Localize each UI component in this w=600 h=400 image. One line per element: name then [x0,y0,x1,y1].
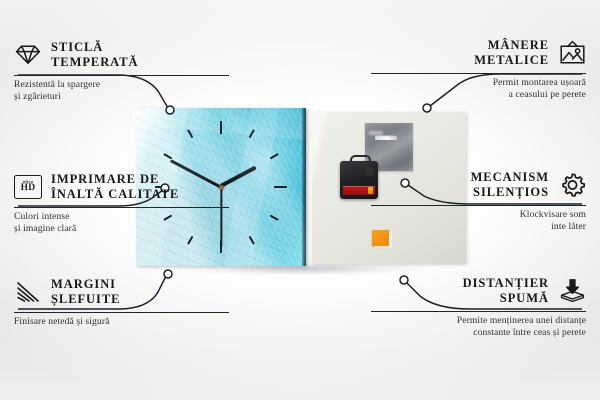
feature-rule [14,312,229,313]
feature-subtitle: Klockvisare som inte låter [371,209,586,235]
gear-icon [558,172,586,198]
foam-spacer-arrow-icon [558,278,586,304]
hanger-glint [369,131,383,135]
feature-metal-hangers: MÂNERE METALICE Permit montarea ușoară [371,38,586,102]
feature-title: MARGINI ȘLEFUITE [51,277,120,307]
feature-rule [371,311,586,312]
infographic-canvas: STICLĂ TEMPERATĂ Rezistentă la spargere … [0,0,600,400]
feature-subtitle: Permit montarea ușoară a ceasului pe per… [371,77,586,103]
feature-high-quality-print: ultra HD IMPRIMARE DE ÎNALTĂ CALITATE Cu… [14,172,229,236]
feature-subtitle: Rezistentă la spargere și zgârieturi [14,79,229,105]
hanger-slot [375,135,397,140]
hd-badge-large-text: HD [21,184,36,194]
clock-side-edge [302,108,306,266]
feature-rule [371,73,586,74]
feature-title: MECANISM SILENȚIOS [471,170,549,200]
picture-frame-hanger-icon [558,40,586,66]
feature-title: DISTANȚIER SPUMĂ [463,276,549,306]
beveled-edge-icon [14,279,42,305]
feature-polished-edges: MARGINI ȘLEFUITE Finisare netedă și sigu… [14,277,229,328]
feature-title: MÂNERE METALICE [474,38,549,68]
ultra-hd-badge-icon: ultra HD [14,174,42,200]
feature-foam-spacer: DISTANȚIER SPUMĂ Permite menținerea unei… [371,276,586,340]
feature-subtitle: Finisare netedă și sigură [14,316,229,329]
feature-subtitle: Permite menținerea unei distanțe constan… [371,315,586,341]
feature-tempered-glass: STICLĂ TEMPERATĂ Rezistentă la spargere … [14,40,229,104]
feature-title: STICLĂ TEMPERATĂ [51,40,139,70]
diamond-icon [14,42,42,68]
feature-title: IMPRIMARE DE ÎNALTĂ CALITATE [51,172,179,202]
feature-subtitle: Culori intense și imagine clară [14,211,229,237]
feature-silent-mechanism: MECANISM SILENȚIOS Klockvisare som inte … [371,170,586,234]
feature-rule [14,207,229,208]
feature-rule [371,205,586,206]
feature-rule [14,75,229,76]
